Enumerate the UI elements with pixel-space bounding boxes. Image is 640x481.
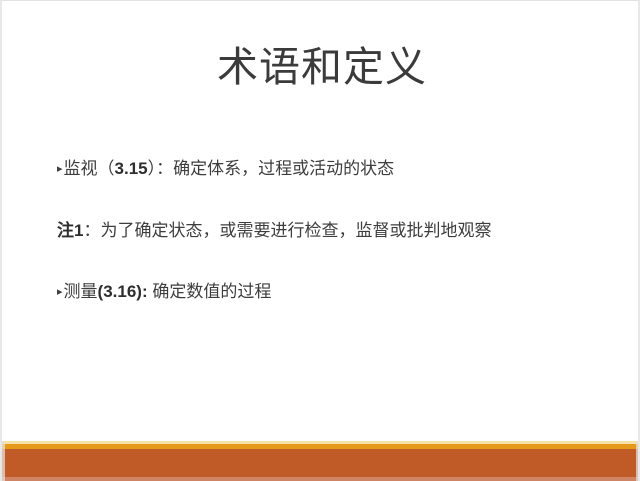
clause-reference-316: (3.16): [98,282,148,301]
triangle-right-bullet-icon: ▸ [57,284,63,301]
footer-band-right-edge [636,441,638,481]
triangle-right-bullet-icon: ▸ [57,161,63,178]
presentation-slide: 术语和定义 ▸监视（3.15）：确定体系，过程或活动的状态 注1：为了确定状态，… [0,0,640,481]
note-label: 注1 [57,221,83,240]
slide-body: ▸监视（3.15）：确定体系，过程或活动的状态 注1：为了确定状态，或需要进行检… [2,149,640,329]
definition-body-monitoring: ）：确定体系，过程或活动的状态 [148,159,395,178]
footer-band-left-edge [2,441,5,481]
bullet-line-monitoring: ▸监视（3.15）：确定体系，过程或活动的状态 [57,157,394,181]
definition-body-measurement: 确定数值的过程 [148,282,272,301]
page-title: 术语和定义 [217,41,427,93]
bullet-line-measurement: ▸测量(3.16): 确定数值的过程 [57,280,271,304]
definition-term-measurement: 测量 [64,282,98,301]
note-line-one: 注1：为了确定状态，或需要进行检查，监督或批判地观察 [57,219,491,243]
footer-band-fade [2,477,640,481]
note-body: ：为了确定状态，或需要进行检查，监督或批判地观察 [83,221,491,240]
clause-reference-315: 3.15 [115,159,148,178]
definition-term-monitoring: 监视（ [64,159,115,178]
footer-band-burnt-orange [2,449,640,477]
slide-title-area: 术语和定义 [2,41,640,93]
